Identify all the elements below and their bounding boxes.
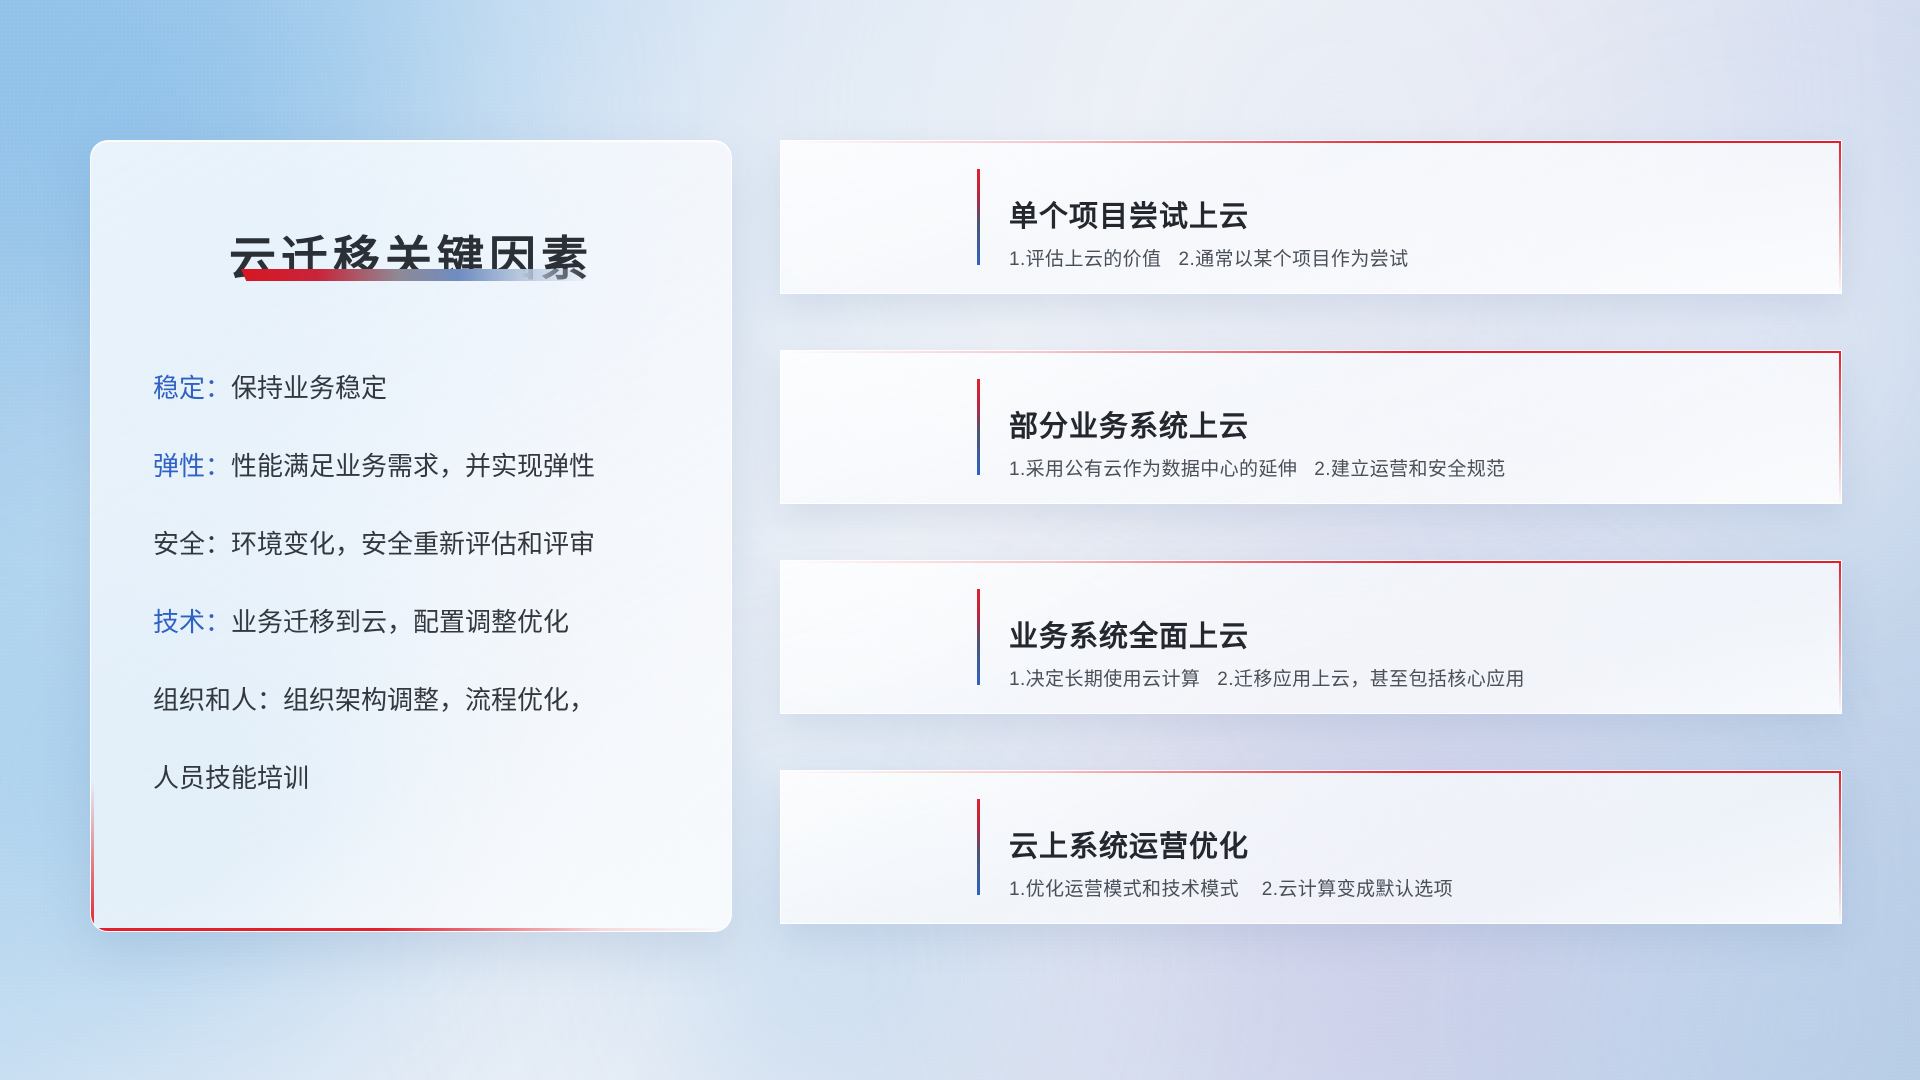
step-divider-accent bbox=[977, 169, 980, 265]
step-number-watermark: 03 bbox=[823, 594, 931, 680]
step-card-03[interactable]: 03 业务系统全面上云 1.决定长期使用云计算 2.迁移应用上云，甚至包括核心应… bbox=[780, 560, 1842, 714]
step-title: 云上系统运营优化 bbox=[1009, 823, 1249, 865]
title-underline-accent bbox=[241, 269, 591, 281]
list-item-text: 业务迁移到云，配置调整优化 bbox=[231, 607, 569, 637]
step-description: 1.优化运营模式和技术模式 2.云计算变成默认选项 bbox=[1009, 874, 1453, 901]
list-item: 弹性：性能满足业务需求，并实现弹性 bbox=[153, 447, 691, 485]
list-item-key: 稳定： bbox=[153, 373, 231, 403]
step-number-text: 01 bbox=[823, 169, 931, 265]
step-card-01[interactable]: 01 单个项目尝试上云 1.评估上云的价值 2.通常以某个项目作为尝试 bbox=[780, 140, 1842, 294]
step-description: 1.采用公有云作为数据中心的延伸 2.建立运营和安全规范 bbox=[1009, 454, 1506, 481]
step-number-watermark: 01 bbox=[823, 174, 931, 260]
step-number-text: 02 bbox=[823, 379, 931, 475]
step-card-04[interactable]: 04 云上系统运营优化 1.优化运营模式和技术模式 2.云计算变成默认选项 bbox=[780, 770, 1842, 924]
key-factors-panel: 云迁移关键因素 稳定：保持业务稳定 弹性：性能满足业务需求，并实现弹性 安全：环… bbox=[90, 140, 732, 932]
step-title: 业务系统全面上云 bbox=[1009, 613, 1249, 655]
key-factors-list: 稳定：保持业务稳定 弹性：性能满足业务需求，并实现弹性 安全：环境变化，安全重新… bbox=[153, 369, 691, 837]
list-item-text: 人员技能培训 bbox=[153, 763, 309, 793]
list-item-key: 弹性： bbox=[153, 451, 231, 481]
step-card-02[interactable]: 02 部分业务系统上云 1.采用公有云作为数据中心的延伸 2.建立运营和安全规范 bbox=[780, 350, 1842, 504]
step-number-text: 04 bbox=[823, 799, 931, 895]
step-title: 单个项目尝试上云 bbox=[1009, 193, 1249, 235]
list-item-text: 保持业务稳定 bbox=[231, 373, 387, 403]
list-item-continuation: 人员技能培训 bbox=[153, 759, 691, 797]
list-item-key: 技术： bbox=[153, 607, 231, 637]
step-number-watermark: 02 bbox=[823, 384, 931, 470]
list-item: 技术：业务迁移到云，配置调整优化 bbox=[153, 603, 691, 641]
slide-stage: 云迁移关键因素 稳定：保持业务稳定 弹性：性能满足业务需求，并实现弹性 安全：环… bbox=[0, 0, 1920, 1080]
step-divider-accent bbox=[977, 799, 980, 895]
list-item-text: 组织架构调整，流程优化， bbox=[283, 685, 595, 715]
step-description: 1.评估上云的价值 2.通常以某个项目作为尝试 bbox=[1009, 244, 1409, 271]
list-item: 稳定：保持业务稳定 bbox=[153, 369, 691, 407]
step-description: 1.决定长期使用云计算 2.迁移应用上云，甚至包括核心应用 bbox=[1009, 664, 1525, 691]
step-divider-accent bbox=[977, 379, 980, 475]
list-item-key: 安全： bbox=[153, 529, 231, 559]
list-item-text: 环境变化，安全重新评估和评审 bbox=[231, 529, 595, 559]
step-number-text: 03 bbox=[823, 589, 931, 685]
list-item-text: 性能满足业务需求，并实现弹性 bbox=[231, 451, 595, 481]
step-title: 部分业务系统上云 bbox=[1009, 403, 1249, 445]
list-item: 组织和人：组织架构调整，流程优化， bbox=[153, 681, 691, 719]
list-item: 安全：环境变化，安全重新评估和评审 bbox=[153, 525, 691, 563]
step-number-watermark: 04 bbox=[823, 804, 931, 890]
step-divider-accent bbox=[977, 589, 980, 685]
list-item-key: 组织和人： bbox=[153, 685, 283, 715]
